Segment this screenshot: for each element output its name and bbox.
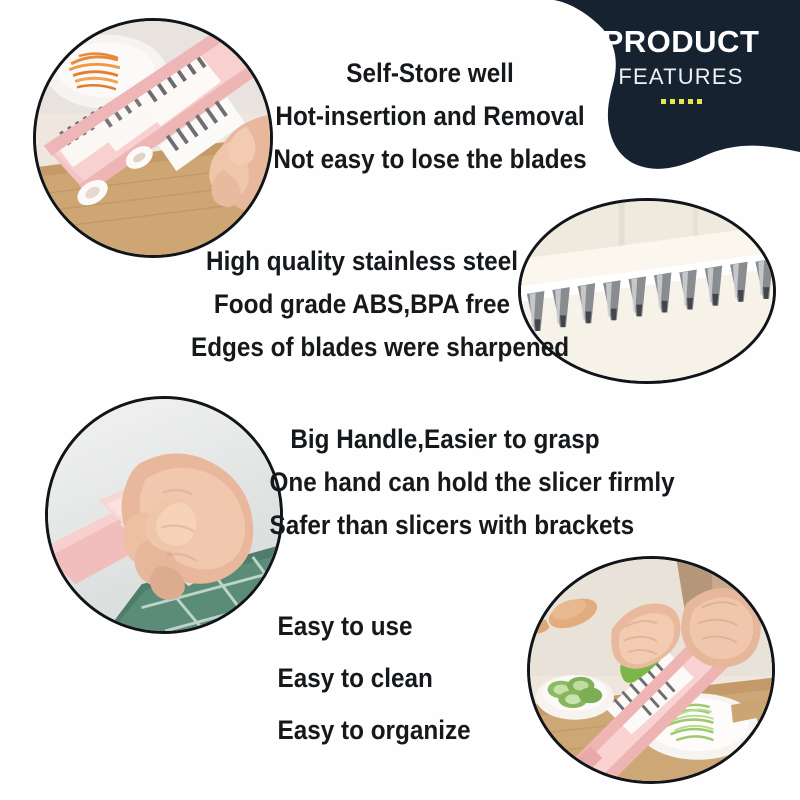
feature-block-handle: Big Handle,Easier to grasp One hand can … xyxy=(270,418,621,547)
photo-slicing-use-image xyxy=(530,559,772,781)
feature-block-materials: High quality stainless steel Food grade … xyxy=(191,240,533,369)
feature-line: Big Handle,Easier to grasp xyxy=(270,418,621,461)
photo-slicing-use xyxy=(527,556,775,784)
feature-block-easy: Easy to use Easy to clean Easy to organi… xyxy=(278,600,521,756)
photo-handle-grip-image xyxy=(48,399,280,631)
feature-line: Safer than slicers with brackets xyxy=(270,504,621,547)
feature-line: Food grade ABS,BPA free xyxy=(191,283,533,326)
photo-blades-storage xyxy=(33,18,273,258)
photo-blades-storage-image xyxy=(36,21,270,255)
feature-line: Easy to clean xyxy=(278,652,521,704)
feature-line: Edges of blades were sharpened xyxy=(191,326,533,369)
feature-block-self-store: Self-Store well Hot-insertion and Remova… xyxy=(268,52,592,181)
feature-line: Hot-insertion and Removal xyxy=(268,95,592,138)
feature-line: Easy to organize xyxy=(278,704,521,756)
feature-line: High quality stainless steel xyxy=(191,240,533,283)
feature-line: One hand can hold the slicer firmly xyxy=(270,461,621,504)
feature-line: Not easy to lose the blades xyxy=(268,138,592,181)
photo-handle-grip xyxy=(45,396,283,634)
feature-line: Self-Store well xyxy=(268,52,592,95)
feature-line: Easy to use xyxy=(278,600,521,652)
product-features-infographic: PRODUCT FEATURES Self-Store well Hot-ins… xyxy=(0,0,800,800)
